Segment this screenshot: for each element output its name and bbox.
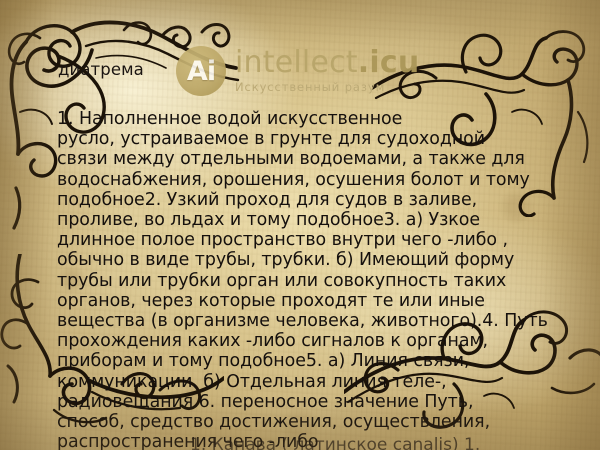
cut-off-line: 1. Канава ( латинское canalis) 1.	[190, 435, 590, 450]
definition-line: длинное полое пространство внутри чего -…	[57, 230, 559, 250]
page-title: диатрема	[58, 60, 144, 79]
definition-line: способ, средство достижения, осуществлен…	[57, 412, 559, 432]
watermark-brand-tld: .icu	[358, 45, 420, 80]
watermark-text-group: intellect.icu Искусственный разум	[235, 48, 419, 94]
definition-line: прохождения каких -либо сигналов к орган…	[57, 331, 559, 351]
watermark-brand: intellect.icu	[235, 48, 419, 78]
definition-line: обычно в виде трубы, трубки. б) Имеющий …	[57, 250, 559, 270]
definition-line: русло, устраиваемое в грунте для судоход…	[57, 129, 559, 149]
definition-text: 1. Наполненное водой искусственноерусло,…	[57, 109, 559, 450]
definition-line: трубы или трубки орган или совокупность …	[57, 271, 559, 291]
watermark-badge-text: Ai	[176, 46, 226, 96]
definition-line: приборам и тому подобное5. а) Линия связ…	[57, 351, 559, 371]
definition-line: 1. Наполненное водой искусственное	[57, 109, 559, 129]
definition-line: коммуникации. б) Отдельная линия теле-,	[57, 372, 559, 392]
watermark: Ai intellect.icu Искусственный разум	[176, 46, 419, 96]
watermark-ai-badge-icon: Ai	[176, 46, 226, 96]
definition-line: органов, через которые проходят те или и…	[57, 291, 559, 311]
definition-line: вещества (в организме человека, животног…	[57, 311, 559, 331]
watermark-tagline: Искусственный разум	[235, 82, 419, 94]
watermark-brand-name: intellect	[235, 45, 358, 80]
presentation-slide: Ai intellect.icu Искусственный разум диа…	[0, 0, 600, 450]
definition-line: подобное2. Узкий проход для судов в зали…	[57, 190, 559, 210]
definition-line: водоснабжения, орошения, осушения болот …	[57, 170, 559, 190]
definition-line: связи между отдельными водоемами, а такж…	[57, 149, 559, 169]
definition-line: проливе, во льдах и тому подобное3. а) У…	[57, 210, 559, 230]
definition-line: радиовещания.6. переносное значение Путь…	[57, 392, 559, 412]
